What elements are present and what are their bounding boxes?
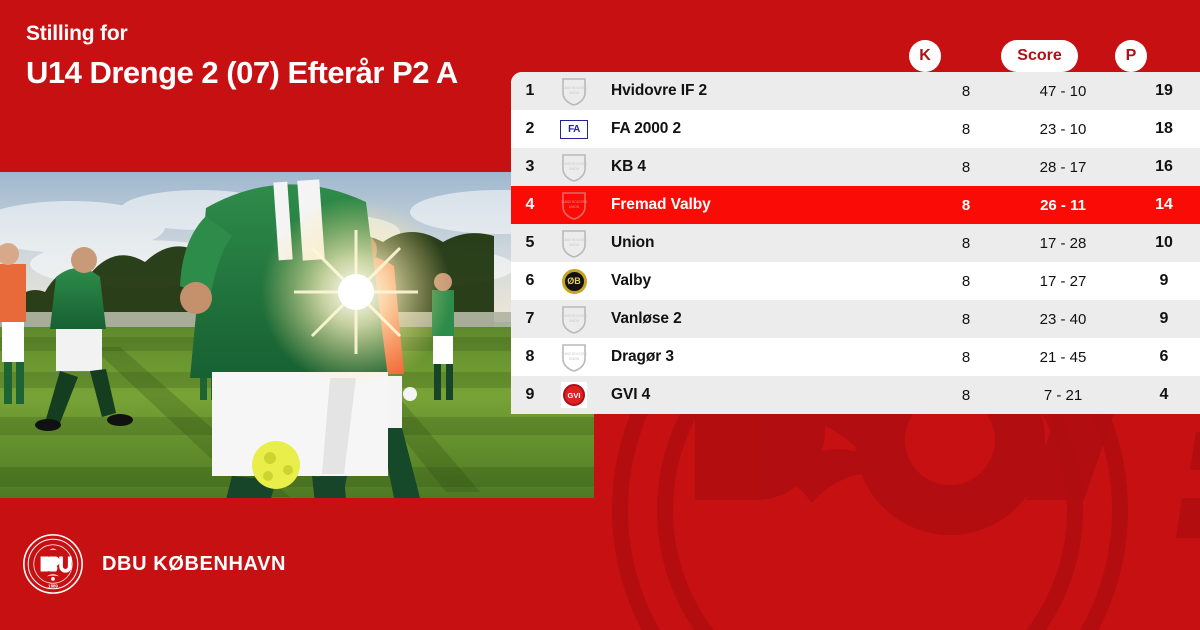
- svg-text:UNION: UNION: [569, 243, 580, 247]
- header-block: Stilling for U14 Drenge 2 (07) Efterår P…: [0, 0, 594, 172]
- shield-placeholder-icon: DANSK BOLDSPIL UNION: [561, 304, 587, 334]
- table-column-headers: K Score P: [511, 40, 1200, 74]
- table-row[interactable]: 6 ØB Valby 8 17 - 27 9: [511, 262, 1200, 300]
- shield-placeholder-icon: DANSK BOLDSPIL UNION: [561, 190, 587, 220]
- row-position: 9: [511, 386, 549, 404]
- row-team-name[interactable]: KB 4: [599, 158, 934, 176]
- row-points: 9: [1128, 272, 1200, 290]
- row-score: 28 - 17: [998, 159, 1128, 176]
- row-score: 23 - 10: [998, 121, 1128, 138]
- column-header-matches: K: [909, 40, 941, 72]
- row-matches: 8: [934, 197, 998, 214]
- svg-text:UNION: UNION: [569, 205, 580, 209]
- table-row[interactable]: 3 DANSK BOLDSPIL UNION KB 4 8 28 - 17 16: [511, 148, 1200, 186]
- row-team-name[interactable]: Vanløse 2: [599, 310, 934, 328]
- row-score: 26 - 11: [998, 197, 1128, 214]
- row-team-name[interactable]: FA 2000 2: [599, 120, 934, 138]
- fa2000-badge-icon: FA: [560, 120, 588, 139]
- svg-text:DANSK BOLDSPIL: DANSK BOLDSPIL: [561, 238, 587, 242]
- row-team-badge: GVI: [549, 382, 599, 408]
- row-team-name[interactable]: Fremad Valby: [599, 196, 934, 214]
- dbu-logo-icon: 1889: [22, 533, 84, 595]
- table-row[interactable]: 1 DANSK BOLDSPIL UNION Hvidovre IF 2 8 4…: [511, 72, 1200, 110]
- valby-badge-icon: ØB: [562, 269, 587, 294]
- row-points: 9: [1128, 310, 1200, 328]
- svg-text:UNION: UNION: [569, 167, 580, 171]
- row-points: 19: [1128, 82, 1200, 100]
- row-team-badge: ØB: [549, 269, 599, 294]
- table-row[interactable]: 4 DANSK BOLDSPIL UNION Fremad Valby 8 26…: [511, 186, 1200, 224]
- svg-text:UNION: UNION: [569, 319, 580, 323]
- table-row[interactable]: 5 DANSK BOLDSPIL UNION Union 8 17 - 28 1…: [511, 224, 1200, 262]
- svg-text:DANSK BOLDSPIL: DANSK BOLDSPIL: [561, 352, 587, 356]
- shield-placeholder-icon: DANSK BOLDSPIL UNION: [561, 342, 587, 372]
- football-match-photo: [0, 172, 594, 498]
- shield-placeholder-icon: DANSK BOLDSPIL UNION: [561, 228, 587, 258]
- row-points: 14: [1128, 196, 1200, 214]
- row-team-badge: DANSK BOLDSPIL UNION: [549, 342, 599, 372]
- footer-org-name: DBU KØBENHAVN: [102, 553, 286, 576]
- row-team-name[interactable]: Union: [599, 234, 934, 252]
- row-score: 47 - 10: [998, 83, 1128, 100]
- row-team-badge: DANSK BOLDSPIL UNION: [549, 190, 599, 220]
- row-position: 1: [511, 82, 549, 100]
- row-matches: 8: [934, 235, 998, 252]
- row-team-name[interactable]: Hvidovre IF 2: [599, 82, 934, 100]
- footer-block: 1889 DBU KØBENHAVN: [0, 498, 1200, 630]
- page-title: U14 Drenge 2 (07) Efterår P2 A: [26, 54, 496, 92]
- table-row[interactable]: 8 DANSK BOLDSPIL UNION Dragør 3 8 21 - 4…: [511, 338, 1200, 376]
- row-matches: 8: [934, 121, 998, 138]
- svg-text:DANSK BOLDSPIL: DANSK BOLDSPIL: [561, 314, 587, 318]
- row-matches: 8: [934, 387, 998, 404]
- row-position: 6: [511, 272, 549, 290]
- row-team-badge: DANSK BOLDSPIL UNION: [549, 304, 599, 334]
- row-points: 6: [1128, 348, 1200, 366]
- table-row[interactable]: 7 DANSK BOLDSPIL UNION Vanløse 2 8 23 - …: [511, 300, 1200, 338]
- svg-text:DANSK BOLDSPIL: DANSK BOLDSPIL: [561, 86, 587, 90]
- row-position: 2: [511, 120, 549, 138]
- table-row[interactable]: 9 GVI GVI 4 8 7 - 21 4: [511, 376, 1200, 414]
- gvi-badge-icon: GVI: [561, 382, 587, 408]
- row-points: 16: [1128, 158, 1200, 176]
- svg-text:UNION: UNION: [569, 357, 580, 361]
- header-kicker: Stilling for: [26, 22, 568, 46]
- column-header-points: P: [1115, 40, 1147, 72]
- column-header-score: Score: [1001, 40, 1078, 72]
- row-position: 8: [511, 348, 549, 366]
- svg-text:DANSK BOLDSPIL: DANSK BOLDSPIL: [561, 200, 587, 204]
- shield-placeholder-icon: DANSK BOLDSPIL UNION: [561, 76, 587, 106]
- svg-text:DANSK BOLDSPIL: DANSK BOLDSPIL: [561, 162, 587, 166]
- row-position: 7: [511, 310, 549, 328]
- row-points: 4: [1128, 386, 1200, 404]
- standings-table: 1 DANSK BOLDSPIL UNION Hvidovre IF 2 8 4…: [511, 72, 1200, 414]
- row-score: 23 - 40: [998, 311, 1128, 328]
- row-score: 21 - 45: [998, 349, 1128, 366]
- row-matches: 8: [934, 273, 998, 290]
- row-team-name[interactable]: Dragør 3: [599, 348, 934, 366]
- row-matches: 8: [934, 311, 998, 328]
- row-score: 7 - 21: [998, 387, 1128, 404]
- table-row[interactable]: 2 FA FA 2000 2 8 23 - 10 18: [511, 110, 1200, 148]
- row-team-badge: FA: [549, 120, 599, 139]
- row-team-name[interactable]: GVI 4: [599, 386, 934, 404]
- row-team-badge: DANSK BOLDSPIL UNION: [549, 76, 599, 106]
- row-points: 10: [1128, 234, 1200, 252]
- row-matches: 8: [934, 349, 998, 366]
- crest-year: 1889: [48, 584, 58, 589]
- row-position: 3: [511, 158, 549, 176]
- row-points: 18: [1128, 120, 1200, 138]
- shield-placeholder-icon: DANSK BOLDSPIL UNION: [561, 152, 587, 182]
- row-position: 5: [511, 234, 549, 252]
- row-score: 17 - 28: [998, 235, 1128, 252]
- row-matches: 8: [934, 159, 998, 176]
- row-position: 4: [511, 196, 549, 214]
- row-matches: 8: [934, 83, 998, 100]
- svg-text:UNION: UNION: [569, 91, 580, 95]
- row-score: 17 - 27: [998, 273, 1128, 290]
- row-team-badge: DANSK BOLDSPIL UNION: [549, 228, 599, 258]
- row-team-badge: DANSK BOLDSPIL UNION: [549, 152, 599, 182]
- row-team-name[interactable]: Valby: [599, 272, 934, 290]
